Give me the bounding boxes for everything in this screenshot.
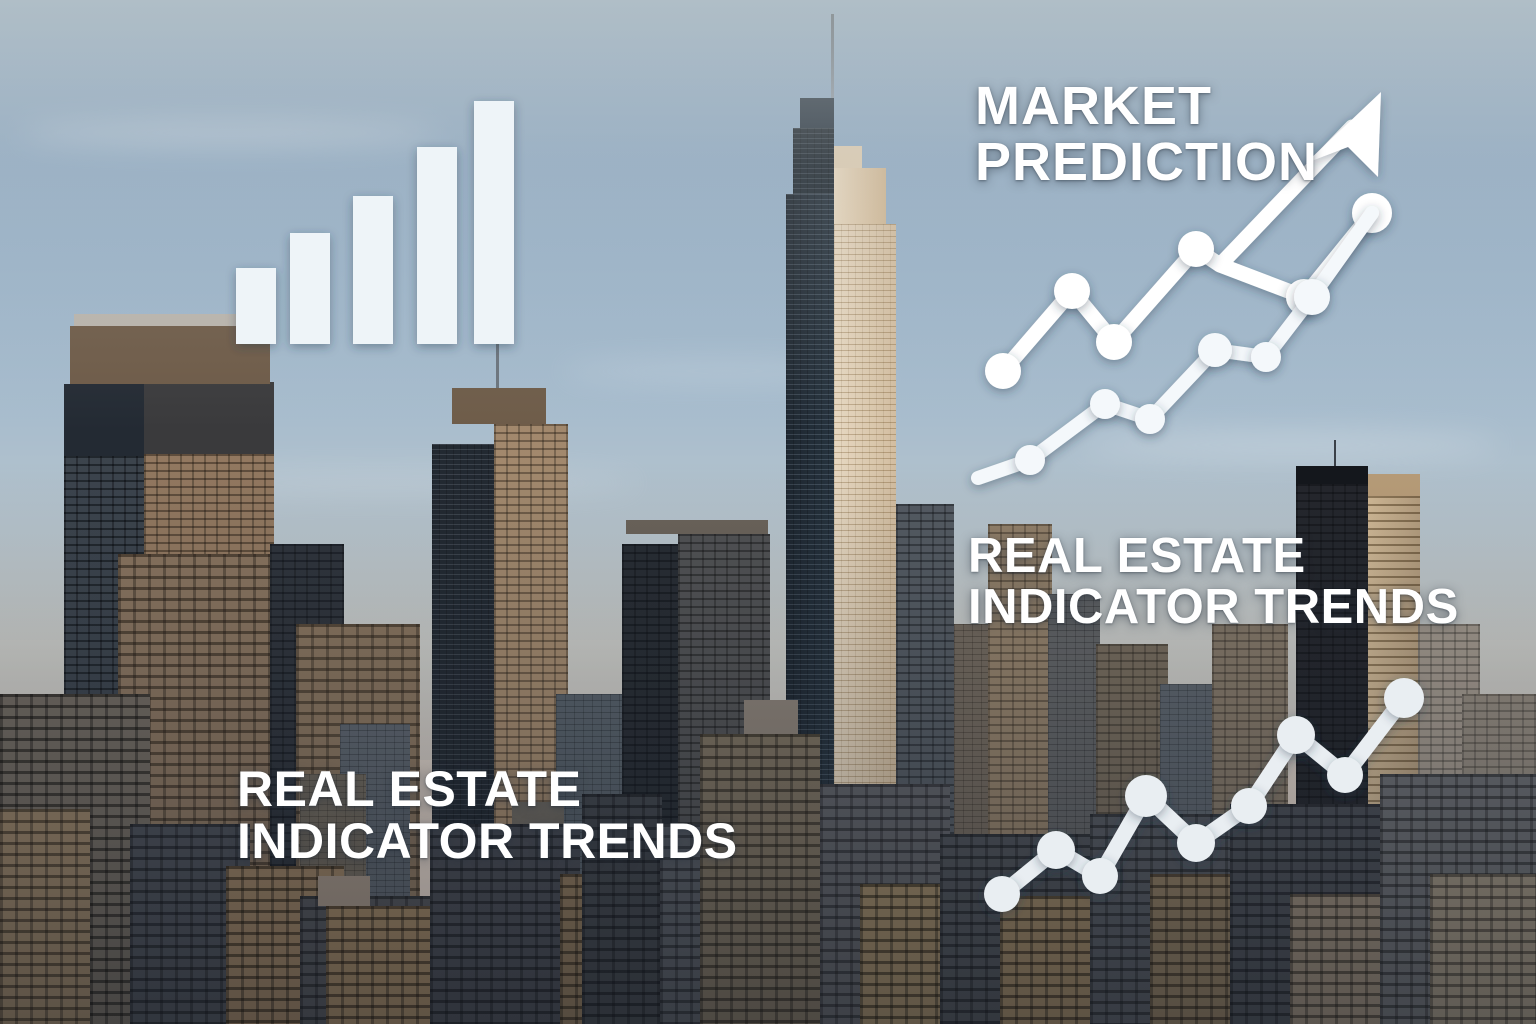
skyline-poster: MARKET PREDICTION REAL ESTATE INDICATOR …	[0, 0, 1536, 1024]
left-trend-title: REAL ESTATE INDICATOR TRENDS	[237, 763, 738, 867]
market-prediction-title: MARKET PREDICTION	[975, 78, 1318, 190]
right-trend-title: REAL ESTATE INDICATOR TRENDS	[968, 531, 1459, 633]
